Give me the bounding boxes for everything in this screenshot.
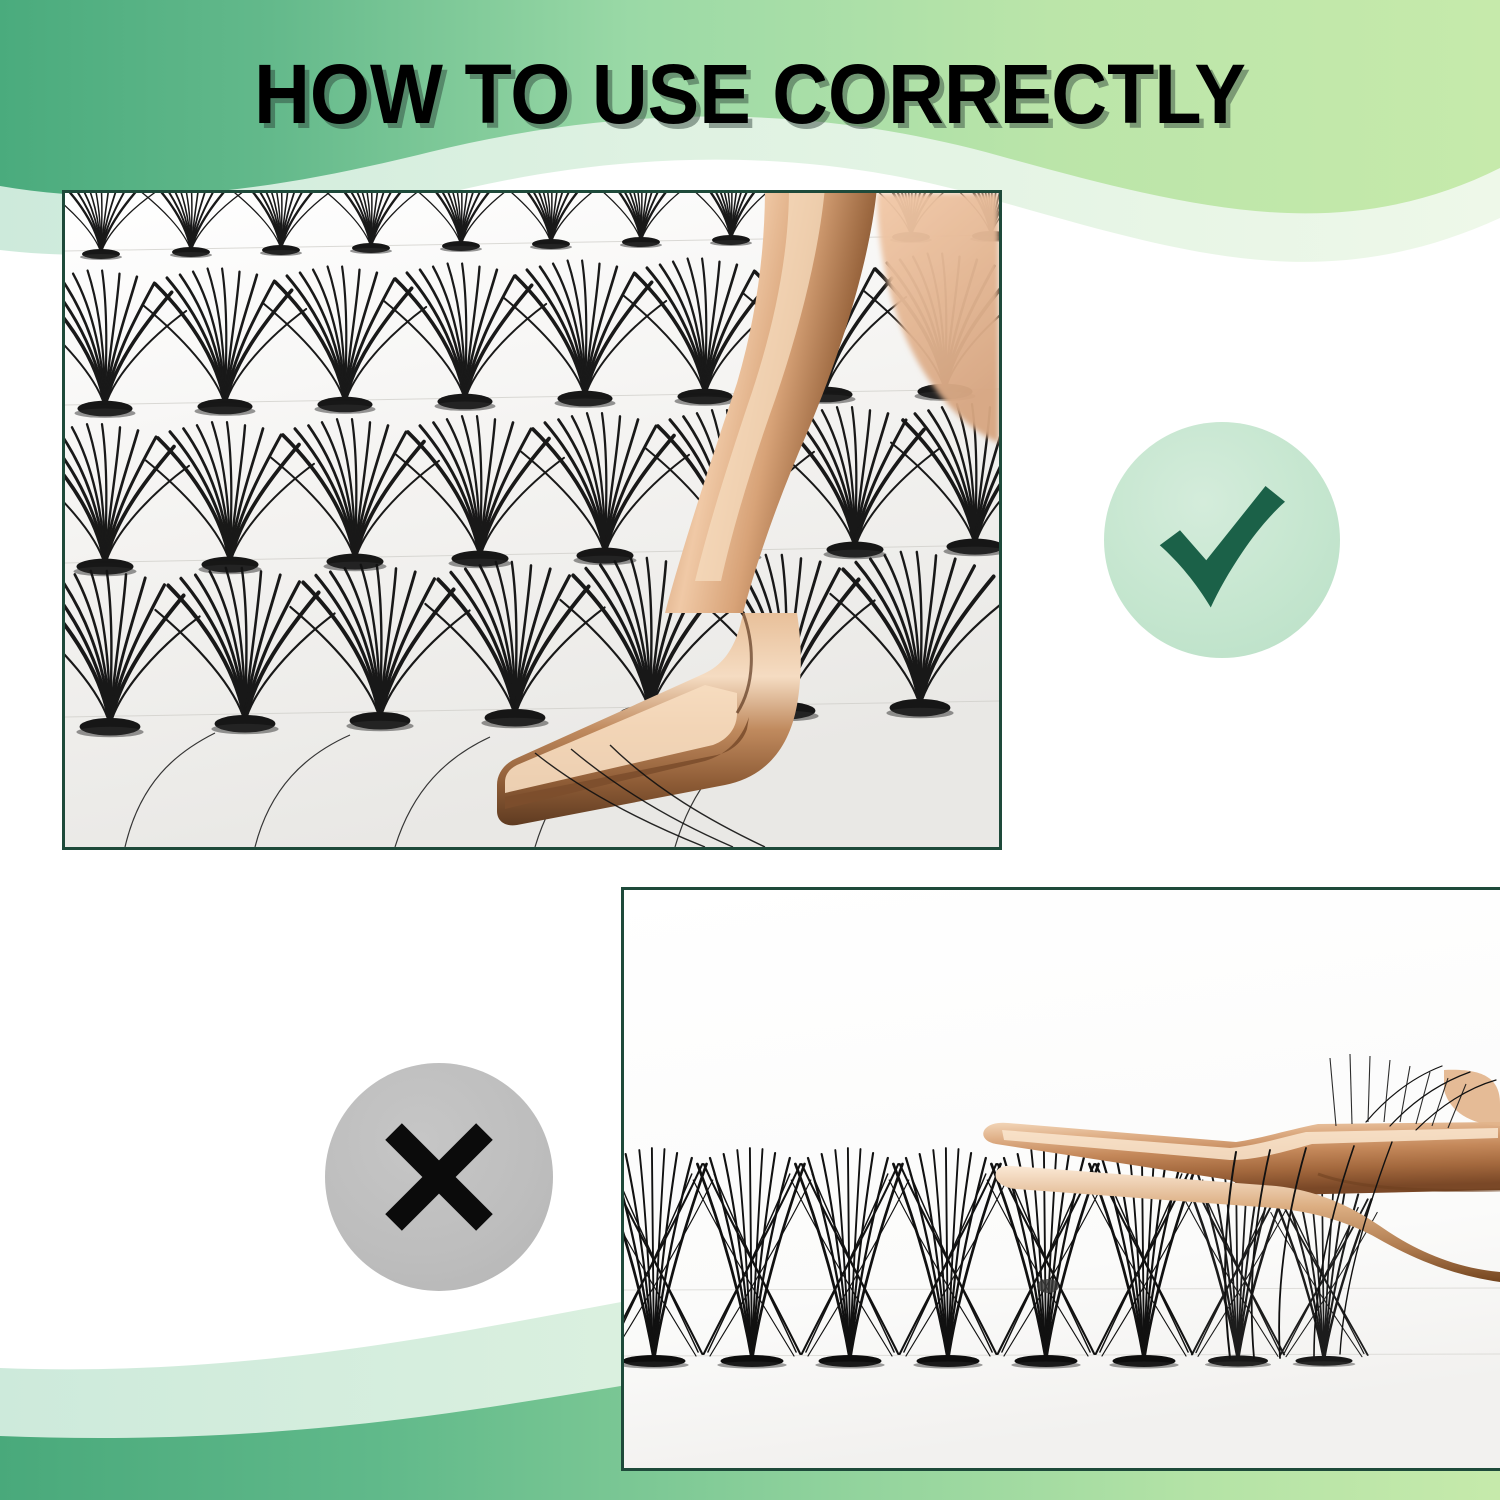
page-title-container: HOW TO USE CORRECTLY [0, 52, 1500, 136]
photo-correct-usage [62, 190, 1002, 850]
infographic-canvas: HOW TO USE CORRECTLY [0, 0, 1500, 1500]
photo-incorrect-usage [621, 887, 1500, 1471]
close-icon [375, 1113, 503, 1241]
status-badge-correct [1104, 422, 1340, 658]
status-badge-incorrect [325, 1063, 553, 1291]
photo-correct-usage-image [65, 193, 999, 847]
check-icon [1147, 465, 1297, 615]
photo-incorrect-usage-image [624, 890, 1500, 1468]
page-title: HOW TO USE CORRECTLY [254, 52, 1246, 136]
